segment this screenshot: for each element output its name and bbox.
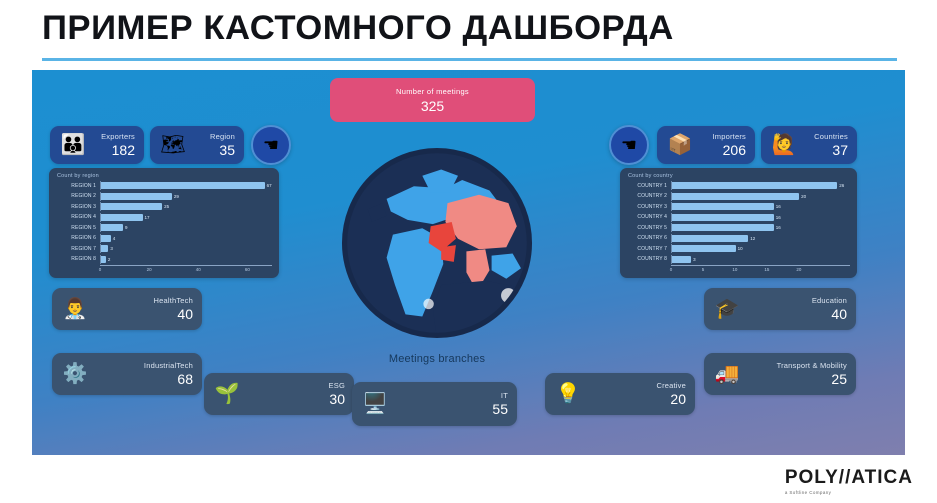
pointing-hand-icon: ☚ [621, 135, 637, 156]
bar-fill [101, 235, 111, 242]
bar-value-label: 3 [691, 256, 696, 263]
bar-category-label: REGION 5 [54, 225, 100, 231]
bar-track: 16 [671, 223, 850, 232]
bar-fill [672, 193, 799, 200]
bar-row: COUNTRY 126 [625, 181, 850, 190]
bar-fill [101, 245, 108, 252]
bar-value-label: 2 [106, 256, 111, 263]
bar-value-label: 9 [123, 224, 128, 231]
kpi-esg-value: 30 [247, 391, 345, 407]
flag-person-icon: 🙋 [770, 131, 798, 159]
bar-row: COUNTRY 83 [625, 255, 850, 264]
kpi-education-label: Education [747, 296, 847, 305]
bar-value-label: 16 [774, 214, 781, 221]
kpi-education-value: 40 [747, 306, 847, 322]
kpi-industrialtech[interactable]: ⚙️ IndustrialTech 68 [52, 353, 202, 395]
axis-tick: 0 [99, 267, 102, 272]
kpi-it-value: 55 [395, 401, 508, 417]
bar-fill [672, 224, 774, 231]
kpi-industrialtech-label: IndustrialTech [95, 361, 193, 370]
axis-tick: 20 [796, 267, 801, 272]
country-bar-chart[interactable]: Count by country COUNTRY 126COUNTRY 220C… [620, 168, 857, 278]
bar-category-label: COUNTRY 4 [625, 214, 671, 220]
kpi-countries-value: 37 [804, 142, 848, 158]
bar-value-label: 4 [111, 235, 116, 242]
seedling-icon: 🌱 [213, 380, 241, 408]
bar-fill [101, 224, 123, 231]
bar-row: REGION 417 [54, 213, 272, 222]
region-bar-chart[interactable]: Count by region REGION 167REGION 229REGI… [49, 168, 279, 278]
bar-value-label: 16 [774, 224, 781, 231]
bar-row: REGION 82 [54, 255, 272, 264]
bar-track: 3 [671, 255, 850, 264]
region-bars: REGION 167REGION 229REGION 325REGION 417… [54, 181, 272, 264]
kpi-transport-label: Transport & Mobility [747, 361, 847, 370]
bar-track: 25 [100, 202, 272, 211]
bar-row: COUNTRY 516 [625, 223, 850, 232]
bar-track: 16 [671, 213, 850, 222]
bar-value-label: 25 [162, 203, 169, 210]
axis-tick: 60 [245, 267, 250, 272]
bar-row: COUNTRY 612 [625, 234, 850, 243]
kpi-creative-label: Creative [588, 381, 686, 390]
lightbulb-icon: 💡 [554, 380, 582, 408]
bar-category-label: REGION 8 [54, 256, 100, 262]
kpi-exporters-value: 182 [93, 142, 135, 158]
bar-category-label: REGION 4 [54, 214, 100, 220]
bar-category-label: REGION 1 [54, 183, 100, 189]
country-chart-title: Count by country [628, 173, 850, 179]
kpi-region-value: 35 [193, 142, 235, 158]
axis-tick: 40 [196, 267, 201, 272]
bar-track: 20 [671, 192, 850, 201]
bar-track: 17 [100, 213, 272, 222]
bar-row: REGION 59 [54, 223, 272, 232]
bar-row: COUNTRY 416 [625, 213, 850, 222]
kpi-transport-value: 25 [747, 371, 847, 387]
kpi-region[interactable]: 🗺 Region 35 [150, 126, 244, 164]
bar-value-label: 16 [774, 203, 781, 210]
axis-tick: 10 [732, 267, 737, 272]
axis-tick: 15 [764, 267, 769, 272]
monitor-icon: 🖥️ [361, 390, 389, 418]
kpi-importers-value: 206 [700, 142, 746, 158]
kpi-esg-label: ESG [247, 381, 345, 390]
bar-track: 12 [671, 234, 850, 243]
bar-row: COUNTRY 220 [625, 192, 850, 201]
kpi-creative[interactable]: 💡 Creative 20 [545, 373, 695, 415]
globe-caption: Meetings branches [332, 353, 542, 365]
globe-map[interactable] [332, 138, 542, 348]
region-chart-title: Count by region [57, 173, 272, 179]
kpi-importers[interactable]: 📦 Importers 206 [657, 126, 755, 164]
right-filter-button[interactable]: ☚ [609, 125, 649, 165]
polymatica-logo: POLY//ATICA a Softline Company [785, 467, 913, 495]
kpi-transport-mobility[interactable]: 🚚 Transport & Mobility 25 [704, 353, 856, 395]
bar-track: 29 [100, 192, 272, 201]
graduation-icon: 🎓 [713, 295, 741, 323]
bar-row: COUNTRY 710 [625, 244, 850, 253]
kpi-countries[interactable]: 🙋 Countries 37 [761, 126, 857, 164]
axis-tick: 0 [670, 267, 673, 272]
bar-category-label: COUNTRY 7 [625, 246, 671, 252]
map-icon: 🗺 [159, 131, 187, 159]
bar-track: 4 [100, 234, 272, 243]
logo-wordmark: POLY//ATICA [785, 467, 913, 489]
bar-row: REGION 64 [54, 234, 272, 243]
meetings-value: 325 [421, 98, 444, 114]
bar-category-label: COUNTRY 8 [625, 256, 671, 262]
gear-icon: ⚙️ [61, 360, 89, 388]
bar-track: 3 [100, 244, 272, 253]
bar-category-label: COUNTRY 5 [625, 225, 671, 231]
title-divider [42, 58, 897, 61]
bar-value-label: 3 [108, 245, 113, 252]
axis-tick: 5 [702, 267, 705, 272]
bar-category-label: REGION 2 [54, 193, 100, 199]
bar-category-label: COUNTRY 1 [625, 183, 671, 189]
kpi-healthtech[interactable]: 👨‍⚕️ HealthTech 40 [52, 288, 202, 330]
region-axis: 0204060 [100, 265, 272, 275]
bar-value-label: 12 [748, 235, 755, 242]
kpi-exporters-label: Exporters [93, 132, 135, 141]
logo-tagline: a Softline Company [785, 490, 913, 495]
bar-row: COUNTRY 316 [625, 202, 850, 211]
kpi-education[interactable]: 🎓 Education 40 [704, 288, 856, 330]
kpi-it-label: IT [395, 391, 508, 400]
bar-fill [672, 256, 691, 263]
kpi-healthtech-label: HealthTech [95, 296, 193, 305]
bar-category-label: COUNTRY 6 [625, 235, 671, 241]
globe-icon [332, 138, 542, 348]
bar-category-label: REGION 6 [54, 235, 100, 241]
bar-track: 16 [671, 202, 850, 211]
meetings-label: Number of meetings [396, 87, 469, 96]
kpi-esg[interactable]: 🌱 ESG 30 [204, 373, 354, 415]
bar-value-label: 20 [799, 193, 806, 200]
kpi-healthtech-value: 40 [95, 306, 193, 322]
bar-category-label: REGION 3 [54, 204, 100, 210]
kpi-exporters[interactable]: 👪 Exporters 182 [50, 126, 144, 164]
doctor-icon: 👨‍⚕️ [61, 295, 89, 323]
bar-row: REGION 73 [54, 244, 272, 253]
bar-row: REGION 325 [54, 202, 272, 211]
pointing-hand-icon: ☚ [263, 135, 279, 156]
bar-category-label: REGION 7 [54, 246, 100, 252]
kpi-region-label: Region [193, 132, 235, 141]
bar-track: 2 [100, 255, 272, 264]
kpi-creative-value: 20 [588, 391, 686, 407]
dashboard-canvas: Number of meetings 325 👪 Exporters 182 🗺… [32, 70, 905, 455]
country-bars: COUNTRY 126COUNTRY 220COUNTRY 316COUNTRY… [625, 181, 850, 264]
bar-track: 67 [100, 181, 272, 190]
bar-track: 9 [100, 223, 272, 232]
bar-fill [672, 203, 774, 210]
country-axis: 05101520 [671, 265, 850, 275]
meetings-kpi-card[interactable]: Number of meetings 325 [330, 78, 535, 122]
bar-fill [672, 182, 837, 189]
bar-category-label: COUNTRY 2 [625, 193, 671, 199]
people-group-icon: 👪 [59, 131, 87, 159]
axis-tick: 20 [147, 267, 152, 272]
bar-row: REGION 167 [54, 181, 272, 190]
bar-value-label: 29 [172, 193, 179, 200]
bar-value-label: 67 [265, 182, 272, 189]
bar-fill [672, 245, 736, 252]
bar-category-label: COUNTRY 3 [625, 204, 671, 210]
kpi-industrialtech-value: 68 [95, 371, 193, 387]
bar-fill [672, 235, 748, 242]
bar-value-label: 17 [143, 214, 150, 221]
kpi-it[interactable]: 🖥️ IT 55 [352, 382, 517, 426]
bar-row: REGION 229 [54, 192, 272, 201]
package-box-icon: 📦 [666, 131, 694, 159]
bar-track: 26 [671, 181, 850, 190]
bar-fill [672, 214, 774, 221]
bar-fill [101, 193, 172, 200]
bar-fill [101, 182, 265, 189]
truck-icon: 🚚 [713, 360, 741, 388]
bar-value-label: 26 [837, 182, 844, 189]
bar-value-label: 10 [736, 245, 743, 252]
left-filter-button[interactable]: ☚ [251, 125, 291, 165]
kpi-countries-label: Countries [804, 132, 848, 141]
page-title: ПРИМЕР КАСТОМНОГО ДАШБОРДА [42, 8, 674, 49]
bar-fill [101, 203, 162, 210]
kpi-importers-label: Importers [700, 132, 746, 141]
bar-fill [101, 214, 143, 221]
bar-track: 10 [671, 244, 850, 253]
